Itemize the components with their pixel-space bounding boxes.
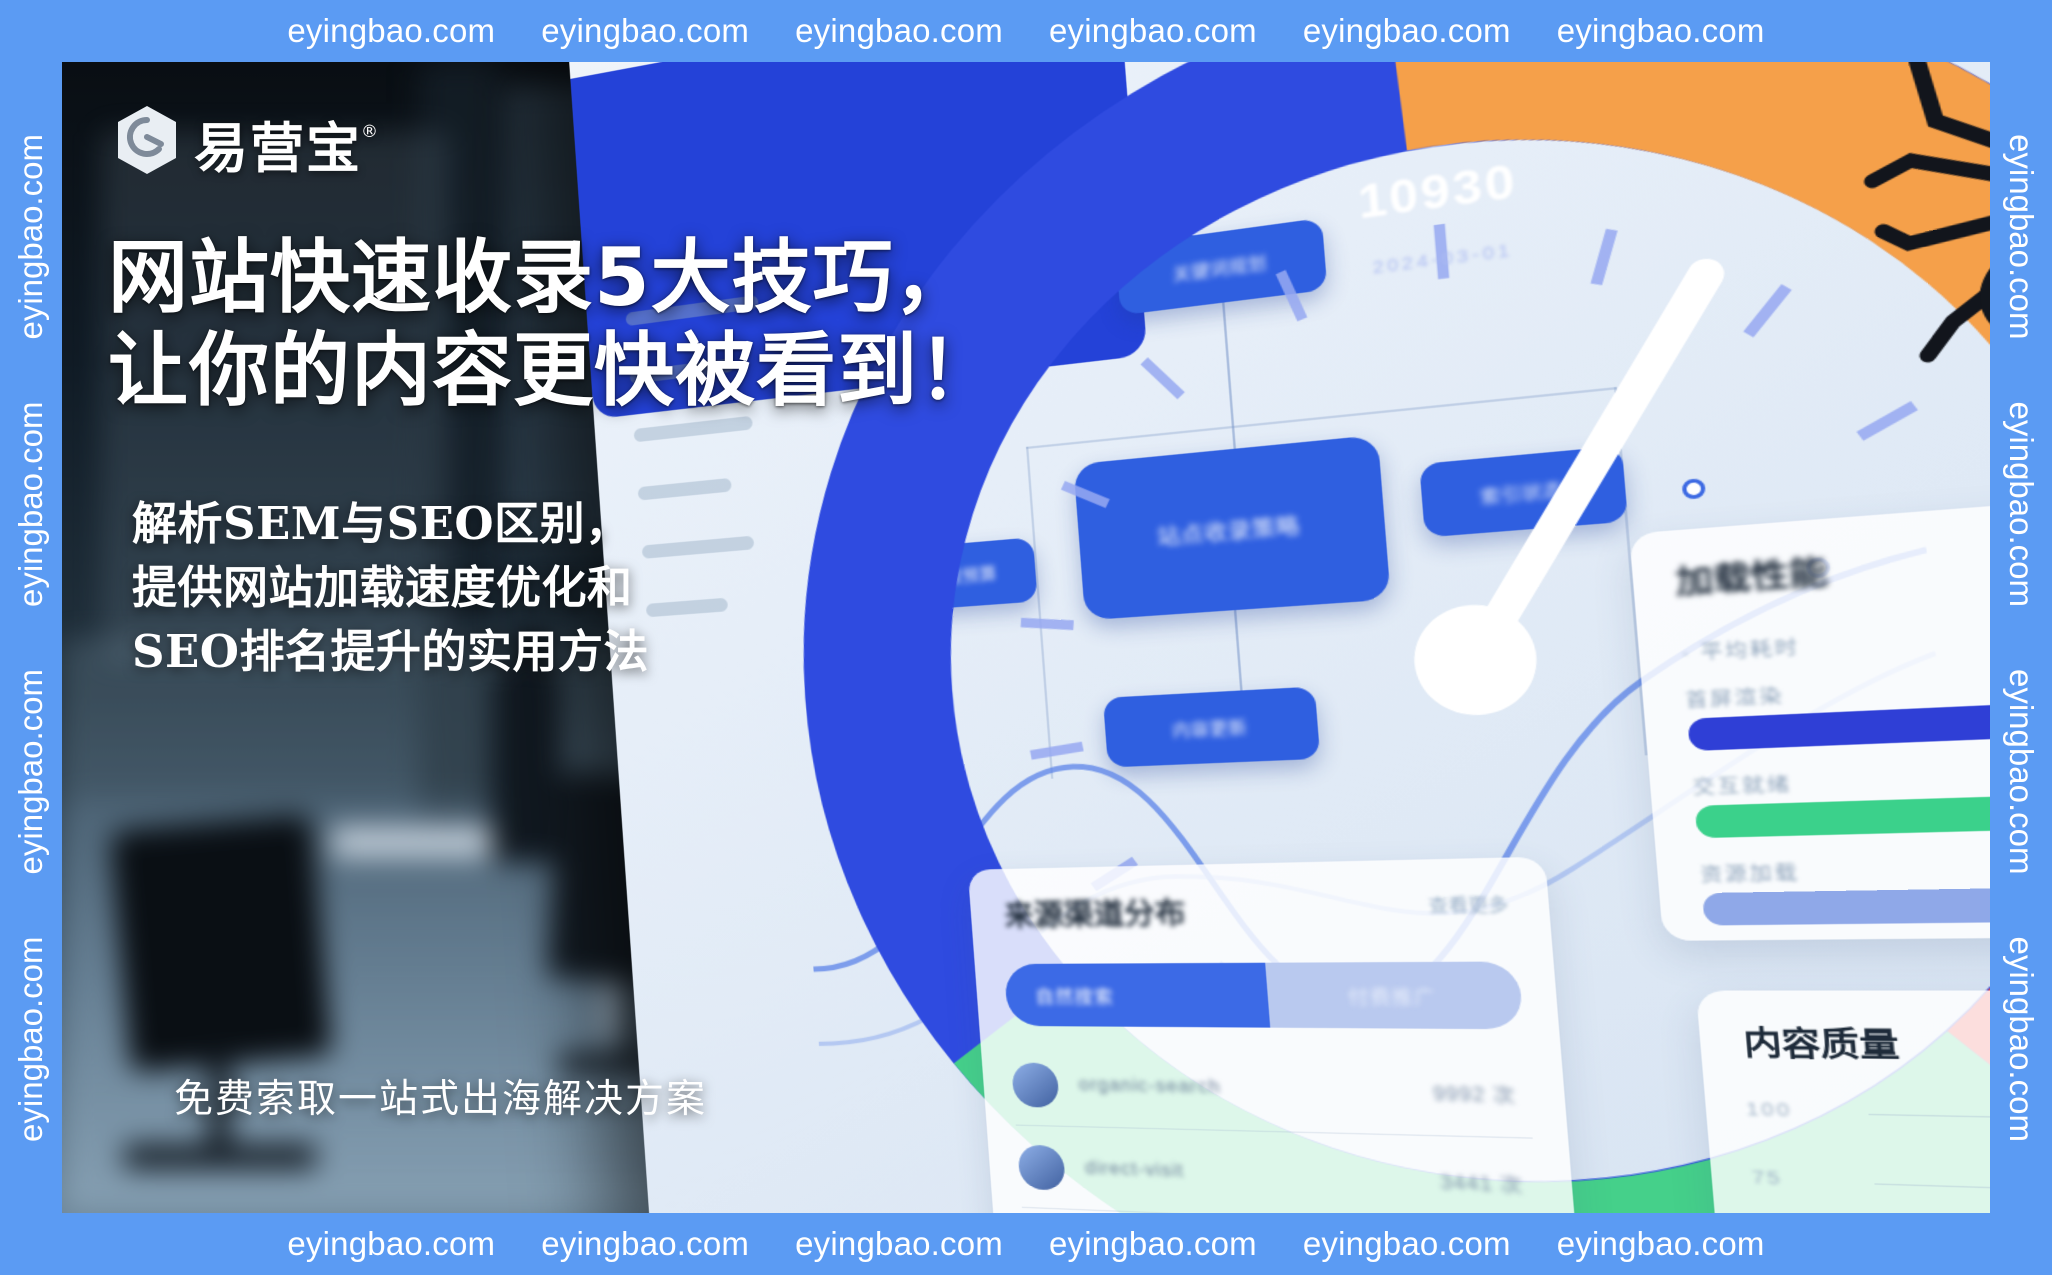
watermark-text: eyingbao.com [1049, 12, 1257, 50]
watermark-text: eyingbao.com [541, 12, 749, 50]
performance-row-label: 首屏渲染 [1685, 682, 1786, 713]
dashboard-screen: https://analytics.example ··· ·· [564, 62, 1990, 1213]
y-tick-label: 75 [1751, 1167, 1783, 1189]
office-chair [110, 813, 333, 1071]
watermark-text: eyingbao.com [2002, 669, 2040, 874]
tab-paid[interactable]: 付费推广 [1265, 961, 1524, 1029]
list-item-value: 3441 次 [1439, 1166, 1524, 1198]
quality-card-title: 内容质量 [1742, 1018, 1901, 1066]
watermark-text: eyingbao.com [287, 1225, 495, 1263]
office-chair-post [209, 1052, 230, 1156]
gridline [1874, 1183, 1990, 1206]
list-item[interactable]: organic-search 9992 次 [1010, 1044, 1533, 1139]
dashboard-surface: https://analytics.example ··· ·· [564, 62, 1990, 1213]
watermark-strip-left: eyingbao.com eyingbao.com eyingbao.com e… [0, 0, 62, 1275]
watermark-text: eyingbao.com [1303, 1225, 1511, 1263]
watermark-text: eyingbao.com [287, 12, 495, 50]
watermark-strip-right: eyingbao.com eyingbao.com eyingbao.com e… [1990, 0, 2052, 1275]
list-item-name: direct-visit [1084, 1158, 1185, 1182]
watermark-text: eyingbao.com [12, 134, 50, 339]
source-list-tabs[interactable]: 自然搜索 付费推广 [1004, 961, 1524, 1029]
y-tick-label: 100 [1745, 1099, 1792, 1121]
poster-artwork: https://analytics.example ··· ·· [62, 62, 1990, 1213]
watermark-text: eyingbao.com [1049, 1225, 1257, 1263]
watermark-text: eyingbao.com [541, 1225, 749, 1263]
tab-label: 付费推广 [1347, 981, 1437, 1010]
watermark-text: eyingbao.com [795, 1225, 1003, 1263]
gauge-card: 站点流量 近30天 [564, 62, 1147, 419]
tab-organic[interactable]: 自然搜索 [1004, 963, 1271, 1028]
watermark-text: eyingbao.com [2002, 936, 2040, 1141]
performance-card: 加载性能 · 平均耗时 首屏渲染 交互就绪 资源加载 [1629, 467, 1990, 941]
office-chair-base [124, 1144, 317, 1169]
watermark-strip-top: eyingbao.com eyingbao.com eyingbao.com e… [0, 0, 2052, 62]
avatar [1017, 1144, 1066, 1190]
performance-row-label: 交互就绪 [1692, 770, 1793, 800]
avatar [1011, 1062, 1060, 1107]
office-window [101, 131, 448, 660]
progress-fill [1695, 792, 1990, 838]
list-item-name: organic-search [1078, 1075, 1222, 1098]
performance-row-label: 资源加载 [1699, 859, 1800, 887]
watermark-text: eyingbao.com [12, 936, 50, 1141]
watermark-text: eyingbao.com [795, 12, 1003, 50]
watermark-text: eyingbao.com [12, 401, 50, 606]
list-item[interactable]: direct-visit 3441 次 [1016, 1126, 1540, 1213]
source-list-more[interactable]: 查看更多 [1428, 891, 1510, 917]
source-list-card: 来源渠道分布 查看更多 自然搜索 付费推广 organic-search 9 [968, 857, 1585, 1213]
watermark-text: eyingbao.com [1557, 1225, 1765, 1263]
performance-card-title: 加载性能 [1674, 547, 1830, 604]
watermark-text: eyingbao.com [2002, 134, 2040, 339]
watermark-text: eyingbao.com [2002, 401, 2040, 606]
quality-card: 内容质量 本月统计 100 75 50 25 原创度 [1696, 991, 1990, 1213]
performance-legend: · 平均耗时 [1681, 633, 1801, 666]
watermark-strip-bottom: eyingbao.com eyingbao.com eyingbao.com e… [0, 1213, 2052, 1275]
poster-root: eyingbao.com eyingbao.com eyingbao.com e… [0, 0, 2052, 1275]
office-person-head [509, 626, 548, 672]
watermark-text: eyingbao.com [1303, 12, 1511, 50]
progress-fill [1702, 888, 1990, 926]
office-person [492, 666, 561, 862]
watermark-text: eyingbao.com [1557, 12, 1765, 50]
watermark-text: eyingbao.com [12, 669, 50, 874]
source-list-title: 来源渠道分布 [1003, 890, 1187, 934]
list-item-value: 9992 次 [1432, 1077, 1517, 1107]
gridline [1868, 1114, 1990, 1129]
tab-label: 自然搜索 [1034, 982, 1114, 1009]
